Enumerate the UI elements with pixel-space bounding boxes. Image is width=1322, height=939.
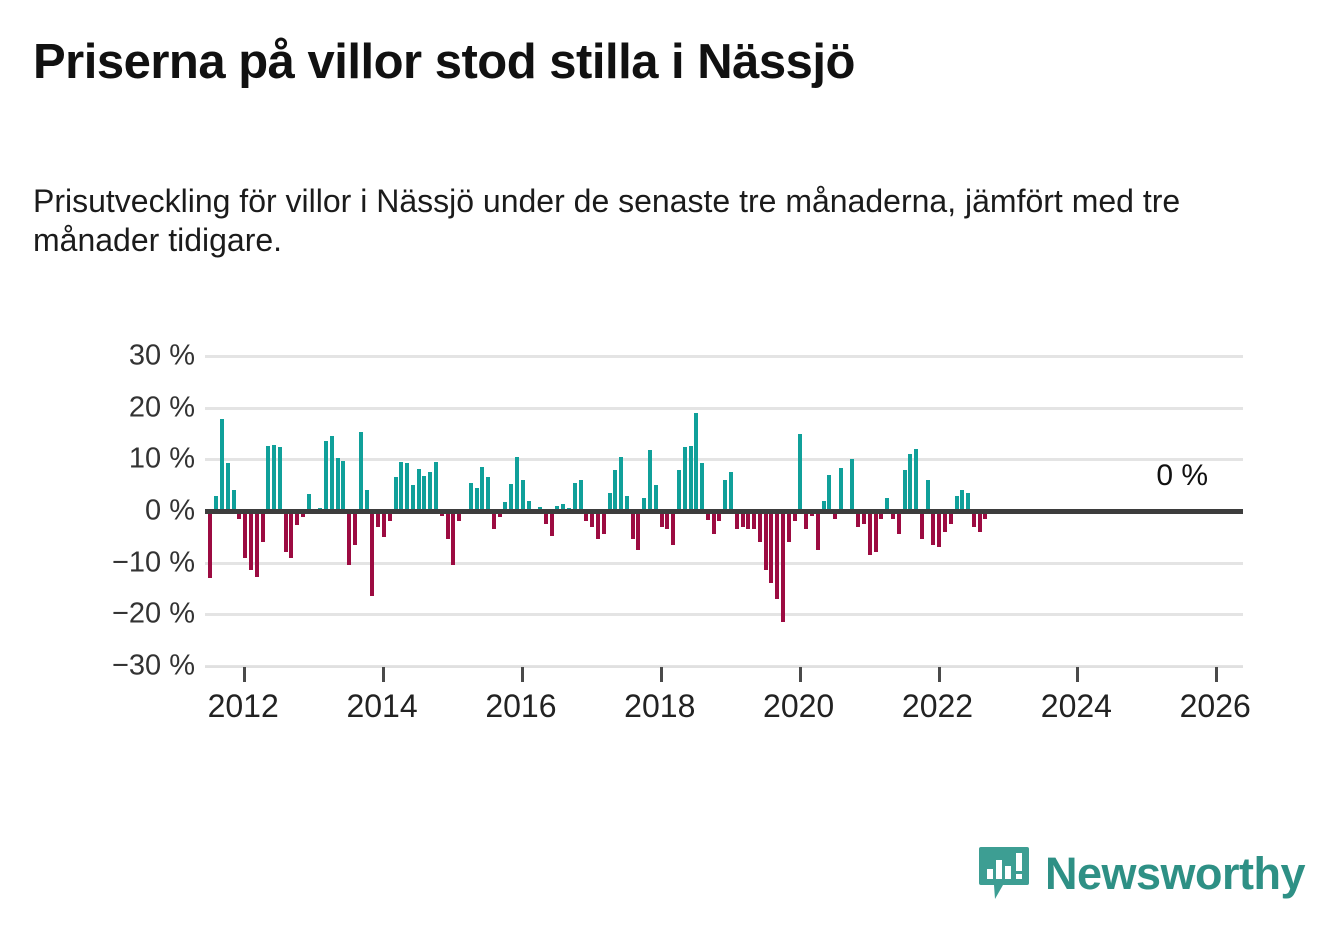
bar bbox=[931, 511, 935, 545]
bar bbox=[694, 413, 698, 511]
x-axis-tick bbox=[1215, 667, 1218, 682]
bar bbox=[272, 445, 276, 511]
bar bbox=[220, 419, 224, 511]
bar bbox=[596, 511, 600, 539]
bar bbox=[619, 457, 623, 511]
x-axis-tick bbox=[799, 667, 802, 682]
bar bbox=[613, 470, 617, 511]
x-axis-label: 2016 bbox=[485, 688, 556, 725]
y-axis-label: 10 % bbox=[129, 443, 195, 476]
plot-area bbox=[205, 356, 1243, 666]
bar bbox=[700, 463, 704, 511]
bar bbox=[798, 434, 802, 512]
x-axis-tick bbox=[660, 667, 663, 682]
y-axis-label: −20 % bbox=[112, 598, 195, 631]
bar bbox=[648, 450, 652, 511]
bar bbox=[602, 511, 606, 534]
bar bbox=[712, 511, 716, 534]
bar bbox=[249, 511, 253, 570]
x-axis-label: 2020 bbox=[763, 688, 834, 725]
bar bbox=[289, 511, 293, 558]
bar bbox=[347, 511, 351, 565]
bar bbox=[469, 483, 473, 511]
x-axis-label: 2022 bbox=[902, 688, 973, 725]
bar bbox=[960, 490, 964, 511]
bar bbox=[839, 468, 843, 511]
chart-page: Priserna på villor stod stilla i Nässjö … bbox=[0, 0, 1322, 939]
bar bbox=[480, 467, 484, 511]
bar bbox=[278, 447, 282, 511]
bar bbox=[255, 511, 259, 577]
bar bbox=[769, 511, 773, 583]
x-axis-line bbox=[205, 666, 1243, 668]
bar bbox=[636, 511, 640, 550]
bar bbox=[775, 511, 779, 599]
chart-subtitle: Prisutveckling för villor i Nässjö under… bbox=[33, 182, 1213, 260]
x-axis-tick bbox=[243, 667, 246, 682]
bar bbox=[509, 484, 513, 511]
bar bbox=[451, 511, 455, 565]
bar bbox=[515, 457, 519, 511]
bar bbox=[978, 511, 982, 532]
bar bbox=[417, 469, 421, 511]
logo-text: Newsworthy bbox=[1045, 848, 1305, 900]
bar bbox=[330, 436, 334, 511]
bar bbox=[232, 490, 236, 511]
bar bbox=[654, 485, 658, 511]
bar bbox=[434, 462, 438, 511]
bar bbox=[677, 470, 681, 511]
bar bbox=[723, 480, 727, 511]
bar bbox=[382, 511, 386, 537]
bar bbox=[683, 447, 687, 511]
newsworthy-logo: Newsworthy bbox=[977, 845, 1305, 903]
bar bbox=[758, 511, 762, 542]
bar bbox=[631, 511, 635, 539]
x-axis-label: 2018 bbox=[624, 688, 695, 725]
bar bbox=[394, 477, 398, 511]
bar bbox=[475, 488, 479, 511]
bar bbox=[908, 454, 912, 511]
x-axis-label: 2014 bbox=[346, 688, 417, 725]
x-axis-tick bbox=[1076, 667, 1079, 682]
bar bbox=[729, 472, 733, 511]
x-axis-tick bbox=[382, 667, 385, 682]
bar bbox=[914, 449, 918, 511]
bar bbox=[446, 511, 450, 539]
bar bbox=[781, 511, 785, 622]
bar bbox=[428, 472, 432, 511]
bar bbox=[874, 511, 878, 552]
zero-line bbox=[205, 509, 1243, 514]
bar bbox=[550, 511, 554, 536]
x-axis-label: 2026 bbox=[1180, 688, 1251, 725]
bar bbox=[422, 476, 426, 511]
bar bbox=[359, 432, 363, 511]
y-axis-label: −30 % bbox=[112, 650, 195, 683]
bar bbox=[405, 463, 409, 511]
bar bbox=[937, 511, 941, 547]
y-axis-label: 0 % bbox=[145, 495, 195, 528]
y-axis-label: 30 % bbox=[129, 340, 195, 373]
bar bbox=[399, 462, 403, 511]
bar bbox=[266, 446, 270, 511]
bar bbox=[353, 511, 357, 545]
y-axis-labels: 30 %20 %10 %0 %−10 %−20 %−30 % bbox=[55, 356, 195, 666]
x-axis-label: 2024 bbox=[1041, 688, 1112, 725]
bar bbox=[897, 511, 901, 534]
bar bbox=[411, 485, 415, 511]
bar bbox=[827, 475, 831, 511]
bar bbox=[261, 511, 265, 542]
bar bbox=[671, 511, 675, 545]
bar bbox=[816, 511, 820, 550]
bar bbox=[787, 511, 791, 542]
bar bbox=[868, 511, 872, 555]
bar bbox=[764, 511, 768, 570]
bar bbox=[370, 511, 374, 596]
bar bbox=[243, 511, 247, 558]
y-axis-label: 20 % bbox=[129, 391, 195, 424]
bar bbox=[284, 511, 288, 552]
x-axis-tick bbox=[521, 667, 524, 682]
x-axis-label: 2012 bbox=[208, 688, 279, 725]
page-title: Priserna på villor stod stilla i Nässjö bbox=[33, 34, 855, 90]
bar bbox=[341, 461, 345, 511]
bar bbox=[920, 511, 924, 539]
bar bbox=[521, 480, 525, 511]
bar-chart: 30 %20 %10 %0 %−10 %−20 %−30 % 201220142… bbox=[0, 330, 1322, 730]
bar bbox=[573, 483, 577, 511]
bar bbox=[903, 470, 907, 511]
y-axis-label: −10 % bbox=[112, 546, 195, 579]
bar bbox=[850, 459, 854, 511]
bar bbox=[943, 511, 947, 532]
bar bbox=[226, 463, 230, 511]
bar bbox=[208, 511, 212, 578]
x-axis-tick bbox=[938, 667, 941, 682]
bar-chart-speech-bubble-icon bbox=[977, 845, 1031, 903]
bar bbox=[365, 490, 369, 511]
bar bbox=[324, 441, 328, 511]
bar bbox=[579, 480, 583, 511]
bar bbox=[689, 446, 693, 511]
bar bbox=[926, 480, 930, 511]
bar bbox=[336, 458, 340, 511]
bar bbox=[486, 477, 490, 511]
